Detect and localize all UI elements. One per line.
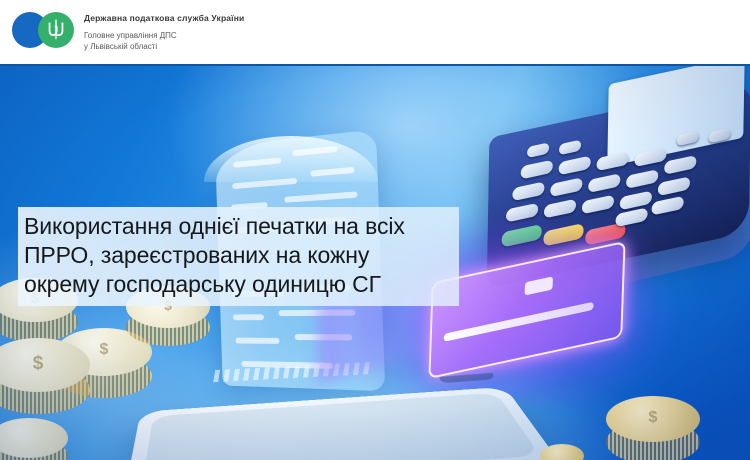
page-root: Державна податкова служба України Головн… [0, 0, 750, 460]
page-title: Використання однієї печатки на всіх ПРРО… [24, 212, 449, 299]
smartphone-screen [142, 393, 540, 460]
organization-name: Державна податкова служба України [84, 12, 244, 24]
coin-symbol: $ [606, 409, 700, 427]
coin: $ [0, 338, 90, 396]
tax-service-logo [12, 10, 78, 50]
card-chip-icon [525, 276, 553, 295]
coin: $ [606, 396, 700, 446]
coin [540, 444, 584, 460]
hero-banner-image: $ $ $ $ [0, 66, 750, 460]
hero-title-box: Використання однієї печатки на всіх ПРРО… [18, 207, 459, 306]
coin-symbol: $ [0, 353, 90, 375]
site-header: Державна податкова служба України Головн… [0, 0, 750, 66]
header-text-block: Державна податкова служба України Головн… [84, 12, 244, 52]
card-magnetic-stripe [444, 302, 594, 342]
header-divider [0, 64, 750, 66]
coin [0, 418, 68, 460]
coin-face [540, 444, 584, 460]
department-name: Головне управління ДПС у Львівській обла… [84, 31, 244, 52]
ukraine-trident-icon [47, 19, 65, 41]
